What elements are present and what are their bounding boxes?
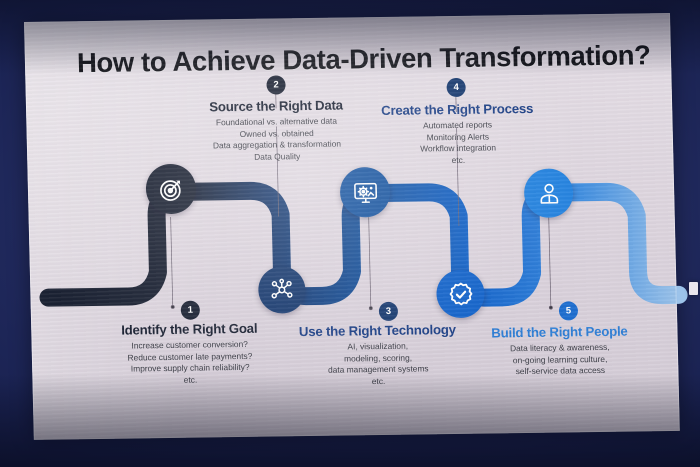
photo-vignette bbox=[0, 0, 700, 467]
projected-slide-photo: How to Achieve Data-Driven Transformatio… bbox=[0, 0, 700, 467]
